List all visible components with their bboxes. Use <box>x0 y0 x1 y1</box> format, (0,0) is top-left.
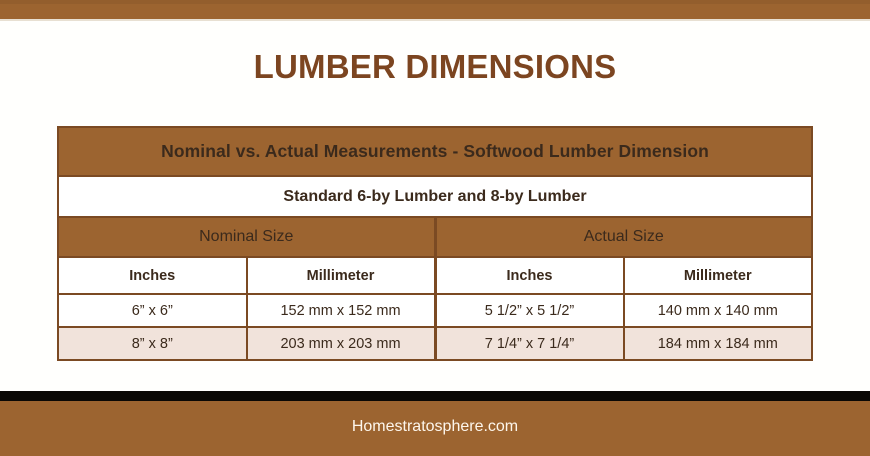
column-header-nominal-inches: Inches <box>58 257 247 294</box>
table-header-row: Nominal vs. Actual Measurements - Softwo… <box>58 127 812 176</box>
group-header-actual-size: Actual Size <box>435 217 812 257</box>
lumber-dimensions-table: Nominal vs. Actual Measurements - Softwo… <box>57 126 813 361</box>
top-accent-bar-underline <box>0 19 870 21</box>
cell-nominal-inches: 8” x 8” <box>58 327 247 360</box>
cell-nominal-millimeter: 203 mm x 203 mm <box>247 327 436 360</box>
cell-actual-inches: 7 1/4” x 7 1/4” <box>435 327 624 360</box>
footer-black-stripe <box>0 391 870 401</box>
column-header-actual-inches: Inches <box>435 257 624 294</box>
infographic-page: LUMBER DIMENSIONS Nominal vs. Actual Mea… <box>0 0 870 456</box>
cell-actual-millimeter: 140 mm x 140 mm <box>624 294 813 327</box>
cell-actual-millimeter: 184 mm x 184 mm <box>624 327 813 360</box>
column-header-nominal-millimeter: Millimeter <box>247 257 436 294</box>
table-main-header: Nominal vs. Actual Measurements - Softwo… <box>58 127 812 176</box>
table-subheader-row: Standard 6-by Lumber and 8-by Lumber <box>58 176 812 217</box>
cell-actual-inches: 5 1/2” x 5 1/2” <box>435 294 624 327</box>
footer-site-name: Homestratosphere.com <box>0 418 870 436</box>
table-column-header-row: Inches Millimeter Inches Millimeter <box>58 257 812 294</box>
group-header-nominal-size: Nominal Size <box>58 217 435 257</box>
top-accent-bar <box>0 0 870 19</box>
cell-nominal-inches: 6” x 6” <box>58 294 247 327</box>
top-accent-bar-shade <box>0 0 870 4</box>
table-subheader: Standard 6-by Lumber and 8-by Lumber <box>58 176 812 217</box>
table-group-header-row: Nominal Size Actual Size <box>58 217 812 257</box>
column-header-actual-millimeter: Millimeter <box>624 257 813 294</box>
table-row: 8” x 8” 203 mm x 203 mm 7 1/4” x 7 1/4” … <box>58 327 812 360</box>
page-title: LUMBER DIMENSIONS <box>0 48 870 86</box>
table-row: 6” x 6” 152 mm x 152 mm 5 1/2” x 5 1/2” … <box>58 294 812 327</box>
cell-nominal-millimeter: 152 mm x 152 mm <box>247 294 436 327</box>
lumber-dimensions-table-wrapper: Nominal vs. Actual Measurements - Softwo… <box>57 126 813 361</box>
